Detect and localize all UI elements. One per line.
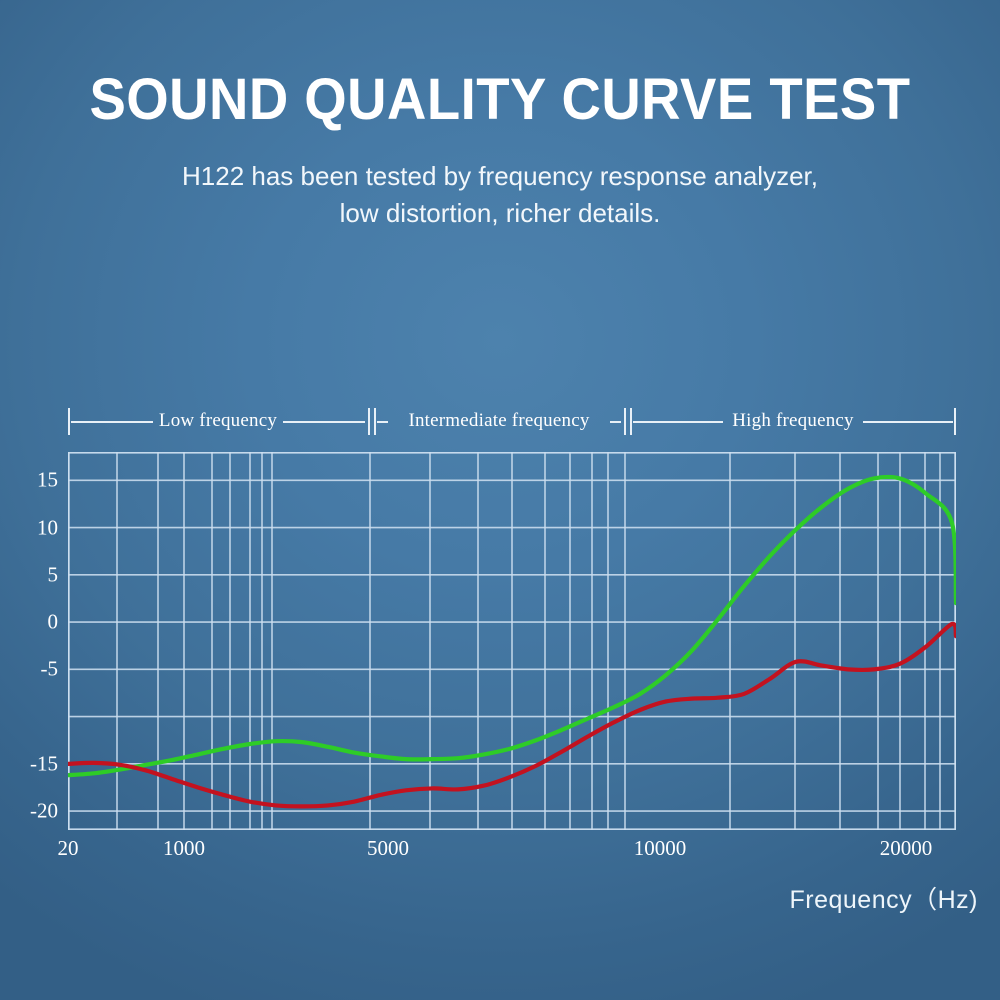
band-end-cap (68, 408, 70, 435)
band-end-cap (954, 408, 956, 435)
y-axis-tick-label: 0 (48, 610, 59, 635)
x-axis-tick-label: 10000 (634, 836, 687, 861)
frequency-band-1: Low frequency (68, 404, 368, 438)
subtitle-line-1: H122 has been tested by frequency respon… (0, 158, 1000, 195)
x-axis-tick-label: 20000 (880, 836, 933, 861)
frequency-band-2: Intermediate frequency (374, 404, 624, 438)
x-axis-labels: 20100050001000020000 (0, 836, 1000, 866)
band-end-cap (630, 408, 632, 435)
frequency-band-ruler: Low frequencyIntermediate frequencyHigh … (68, 404, 956, 438)
band-end-cap (368, 408, 370, 435)
page-subtitle: H122 has been tested by frequency respon… (0, 158, 1000, 232)
y-axis-tick-label: -15 (30, 751, 58, 776)
y-axis-tick-label: 15 (37, 468, 58, 493)
y-axis-tick-label: 10 (37, 515, 58, 540)
x-axis-title: Frequency（Hz) (790, 880, 979, 916)
x-axis-tick-label: 20 (58, 836, 79, 861)
band-end-cap (624, 408, 626, 435)
band-rule-left (633, 421, 723, 423)
x-axis-tick-label: 5000 (367, 836, 409, 861)
band-rule-left (377, 421, 388, 423)
page-title: SOUND QUALITY CURVE TEST (30, 70, 970, 131)
frequency-band-3: High frequency (630, 404, 956, 438)
band-end-cap (374, 408, 376, 435)
x-axis-tick-label: 1000 (163, 836, 205, 861)
band-rule-right (283, 421, 365, 423)
band-label: Intermediate frequency (399, 410, 598, 432)
band-label: Low frequency (150, 410, 286, 432)
band-rule-left (71, 421, 153, 423)
band-label: High frequency (723, 410, 863, 432)
frequency-response-chart (68, 452, 956, 830)
y-axis-tick-label: -20 (30, 799, 58, 824)
band-rule-right (610, 421, 621, 423)
band-rule-right (863, 421, 953, 423)
y-axis-tick-label: -5 (41, 657, 59, 682)
y-axis-tick-label: 5 (48, 562, 59, 587)
subtitle-line-2: low distortion, richer details. (0, 195, 1000, 232)
poster-background: SOUND QUALITY CURVE TEST H122 has been t… (0, 0, 1000, 1000)
y-axis-labels: 151050-5-15-20 (0, 452, 58, 830)
